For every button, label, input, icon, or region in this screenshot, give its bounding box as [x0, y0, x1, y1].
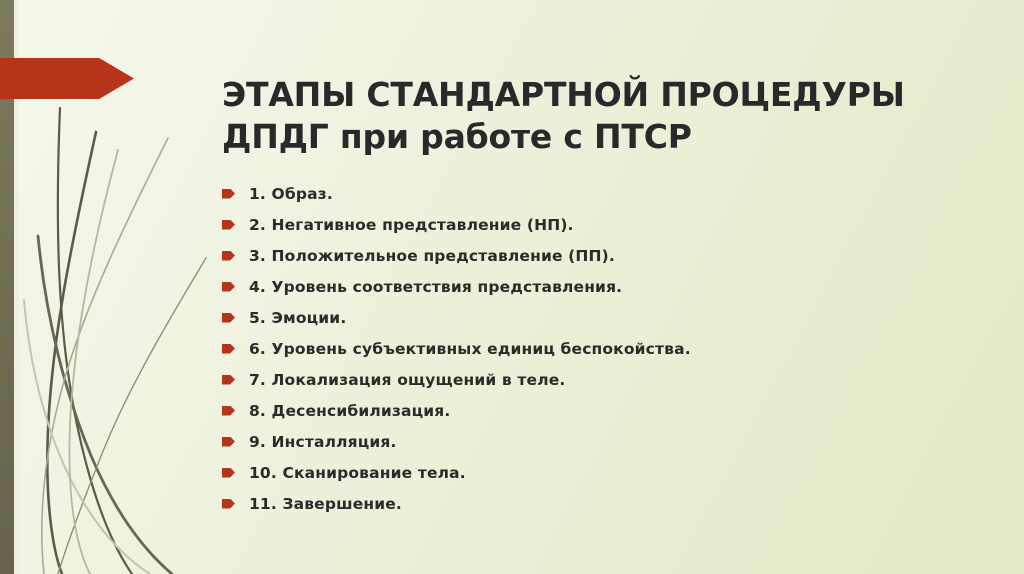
page-title: ЭТАПЫ СТАНДАРТНОЙ ПРОЦЕДУРЫ ДПДГ при раб… [222, 74, 992, 158]
list-item-label: 9. Инсталляция. [249, 433, 396, 451]
slide-canvas: ЭТАПЫ СТАНДАРТНОЙ ПРОЦЕДУРЫ ДПДГ при раб… [0, 0, 1024, 574]
red-arrow-bullet-icon [222, 375, 235, 385]
list-item: 6. Уровень субъективных единиц беспокойс… [222, 333, 982, 364]
red-arrow-banner [0, 58, 134, 99]
list-item: 1. Образ. [222, 178, 982, 209]
red-arrow-bullet-icon [222, 189, 235, 199]
list-item-label: 5. Эмоции. [249, 309, 346, 327]
list-item: 3. Положительное представление (ПП). [222, 240, 982, 271]
red-arrow-bullet-icon [222, 437, 235, 447]
red-arrow-bullet-icon [222, 282, 235, 292]
red-arrow-bullet-icon [222, 251, 235, 261]
list-item: 10. Сканирование тела. [222, 457, 982, 488]
list-item-label: 4. Уровень соответствия представления. [249, 278, 622, 296]
red-arrow-bullet-icon [222, 406, 235, 416]
page-title-line-1: ЭТАПЫ СТАНДАРТНОЙ ПРОЦЕДУРЫ [222, 74, 992, 116]
red-arrow-bullet-icon [222, 344, 235, 354]
list-item-label: 11. Завершение. [249, 495, 402, 513]
red-arrow-bullet-icon [222, 499, 235, 509]
red-arrow-bullet-icon [222, 220, 235, 230]
list-item-label: 3. Положительное представление (ПП). [249, 247, 615, 265]
list-item: 7. Локализация ощущений в теле. [222, 364, 982, 395]
list-item: 8. Десенсибилизация. [222, 395, 982, 426]
list-item: 4. Уровень соответствия представления. [222, 271, 982, 302]
red-arrow-bullet-icon [222, 313, 235, 323]
list-item: 5. Эмоции. [222, 302, 982, 333]
list-item-label: 8. Десенсибилизация. [249, 402, 450, 420]
list-item: 9. Инсталляция. [222, 426, 982, 457]
red-arrow-bullet-icon [222, 468, 235, 478]
list-item: 11. Завершение. [222, 488, 982, 519]
list-item: 2. Негативное представление (НП). [222, 209, 982, 240]
procedure-steps-list: 1. Образ. 2. Негативное представление (Н… [222, 178, 982, 519]
list-item-label: 6. Уровень субъективных единиц беспокойс… [249, 340, 691, 358]
list-item-label: 2. Негативное представление (НП). [249, 216, 574, 234]
list-item-label: 1. Образ. [249, 185, 333, 203]
page-title-line-2: ДПДГ при работе с ПТСР [222, 116, 992, 158]
list-item-label: 10. Сканирование тела. [249, 464, 466, 482]
list-item-label: 7. Локализация ощущений в теле. [249, 371, 565, 389]
